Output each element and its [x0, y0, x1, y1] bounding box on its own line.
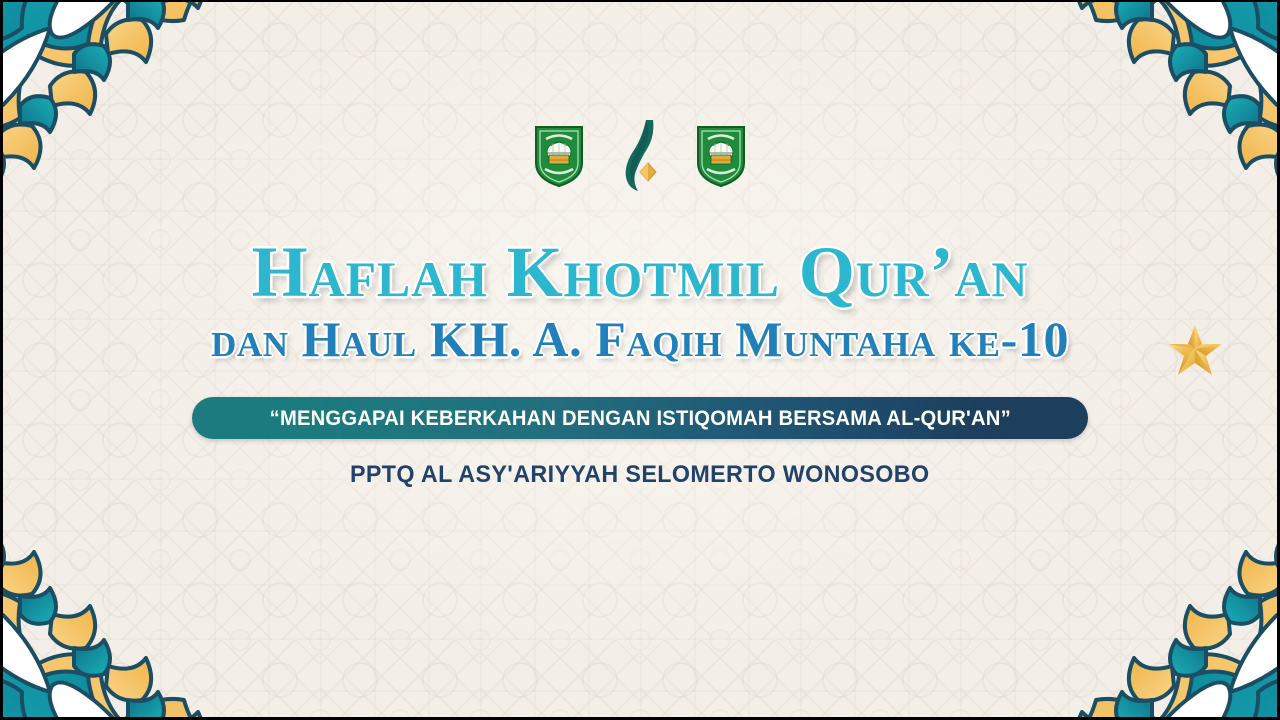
institution-shield-emblem-left — [532, 123, 586, 187]
event-title-secondary: dan Haul KH. A. Faqih Muntaha ke-10 — [0, 314, 1280, 364]
event-title-primary: Haflah Khotmil Qur’an — [0, 236, 1280, 308]
theme-banner-text: “MENGGAPAI KEBERKAHAN DENGAN ISTIQOMAH B… — [269, 406, 1010, 431]
corner-ornament-bottom-left — [0, 478, 242, 720]
corner-ornament-bottom-right — [1038, 478, 1280, 720]
theme-banner-wrap: “MENGGAPAI KEBERKAHAN DENGAN ISTIQOMAH B… — [0, 397, 1280, 439]
theme-banner: “MENGGAPAI KEBERKAHAN DENGAN ISTIQOMAH B… — [192, 397, 1088, 439]
leaf-flame-logo — [620, 118, 660, 192]
title-block: Haflah Khotmil Qur’an dan Haul KH. A. Fa… — [0, 236, 1280, 364]
gold-star-icon — [1166, 322, 1224, 378]
event-poster: Haflah Khotmil Qur’an dan Haul KH. A. Fa… — [0, 0, 1280, 720]
institution-shield-emblem-right — [694, 123, 748, 187]
institution-line: PPTQ AL ASY'ARIYYAH SELOMERTO WONOSOBO — [0, 461, 1280, 489]
emblem-row — [0, 118, 1280, 192]
institution-name: PPTQ AL ASY'ARIYYAH SELOMERTO WONOSOBO — [350, 461, 930, 489]
